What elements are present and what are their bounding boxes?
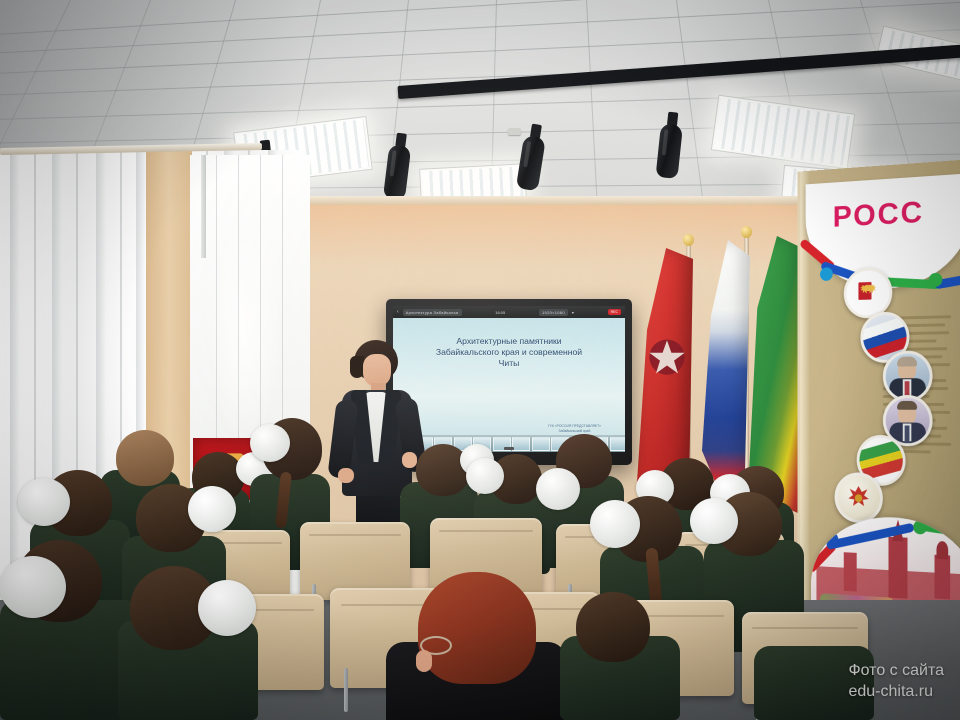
hair-bow: [250, 424, 290, 462]
presenter-hand-right: [402, 452, 417, 468]
hair-bow: [198, 580, 256, 636]
poster-title: РОСС: [833, 194, 924, 234]
track-spotlight[interactable]: [517, 123, 547, 189]
flag-finial: [741, 226, 752, 238]
smoke-detector: [508, 128, 521, 135]
slide-credit-line-1: ГУК «РОССИЯ ПРЕДСТАВЛЯЕТ»: [548, 424, 601, 429]
head-red-hair: [418, 572, 536, 684]
hair-bow: [466, 458, 504, 494]
watermark-line-2: edu-chita.ru: [848, 681, 944, 702]
topbar-rec-badge[interactable]: REC: [608, 309, 621, 315]
hair-bow: [18, 478, 70, 526]
slide-title-line-1: Архитектурные памятники: [409, 336, 609, 347]
hair-bow: [536, 468, 580, 510]
slide-title-line-2: Забайкальского края и современной: [409, 347, 609, 358]
slide-credit: ГУК «РОССИЯ ПРЕДСТАВЛЯЕТ» Забайкальский …: [548, 424, 601, 433]
watermark-line-1: Фото с сайта: [848, 660, 944, 681]
slide-credit-line-2: Забайкальский край: [548, 429, 601, 434]
slide-thumbnail[interactable]: [610, 437, 626, 451]
photo-scene: РОСС: [0, 0, 960, 720]
blind-rail[interactable]: [201, 155, 206, 258]
display-brand-logo: [504, 447, 514, 450]
track-spotlight[interactable]: [384, 132, 412, 198]
slide-title-line-3: Читы: [409, 358, 609, 369]
head: [576, 592, 650, 662]
hair-bow: [0, 556, 66, 618]
presenter-hand-left: [338, 468, 354, 483]
arc-dot-blue-bottom: [825, 532, 838, 546]
hair-bow: [188, 486, 236, 532]
flag-finial: [683, 234, 694, 246]
topbar-clock: 16:05: [495, 310, 505, 315]
watermark: Фото с сайта edu-chita.ru: [848, 660, 944, 702]
display-topbar[interactable]: ‹ Архитектура Забайкалья 16:05 1920×1080…: [393, 306, 625, 318]
topbar-chevron-down-icon[interactable]: ▾: [572, 310, 574, 315]
topbar-app-label: Архитектура Забайкалья: [403, 309, 462, 316]
head: [116, 430, 174, 486]
hair-bow: [690, 498, 738, 544]
slide-thumbnail[interactable]: [532, 437, 550, 451]
slide-thumbnail[interactable]: [512, 437, 530, 451]
yunarmiya-star-emblem-icon: [645, 330, 689, 386]
topbar-back-icon[interactable]: ‹: [397, 309, 399, 315]
arc-dot-green-bottom: [913, 520, 926, 534]
hair-bow: [590, 500, 640, 548]
topbar-resolution-chip[interactable]: 1920×1080: [539, 309, 568, 316]
ear: [416, 650, 432, 672]
information-stand: РОСС: [798, 160, 960, 630]
arc-dot-blue: [820, 267, 833, 281]
